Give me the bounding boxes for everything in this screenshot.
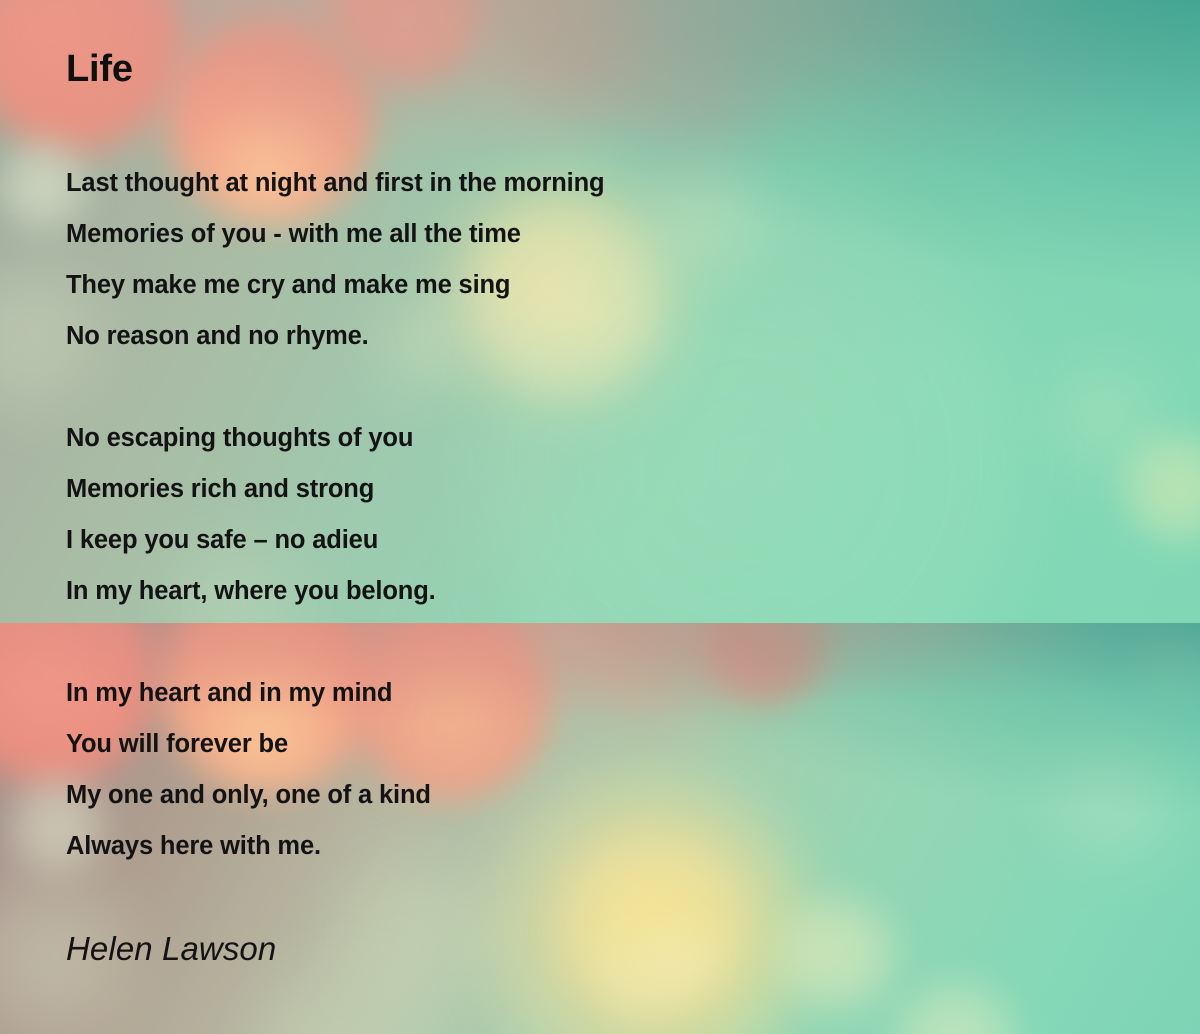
poem-text-overlay: Life Last thought at night and first in … [0, 0, 1200, 1034]
poem-line: My one and only, one of a kind [66, 770, 1126, 821]
poem-card: Life Last thought at night and first in … [0, 0, 1200, 1034]
poem-body: Last thought at night and first in the m… [66, 158, 1126, 872]
poem-line: Memories of you - with me all the time [66, 209, 1126, 260]
poem-line: No reason and no rhyme. [66, 311, 1126, 362]
poem-line: Memories rich and strong [66, 464, 1126, 515]
poem-line: I keep you safe – no adieu [66, 515, 1126, 566]
poem-title: Life [66, 50, 133, 88]
poem-line: No escaping thoughts of you [66, 413, 1126, 464]
poem-stanza: No escaping thoughts of you Memories ric… [66, 413, 1126, 617]
poem-line: Always here with me. [66, 821, 1126, 872]
poem-stanza: In my heart and in my mind You will fore… [66, 668, 1126, 872]
poem-line: Last thought at night and first in the m… [66, 158, 1126, 209]
poem-line: In my heart, where you belong. [66, 566, 1126, 617]
poem-line: In my heart and in my mind [66, 668, 1126, 719]
poem-author: Helen Lawson [66, 930, 276, 968]
poem-line: They make me cry and make me sing [66, 260, 1126, 311]
poem-line: You will forever be [66, 719, 1126, 770]
poem-stanza: Last thought at night and first in the m… [66, 158, 1126, 362]
